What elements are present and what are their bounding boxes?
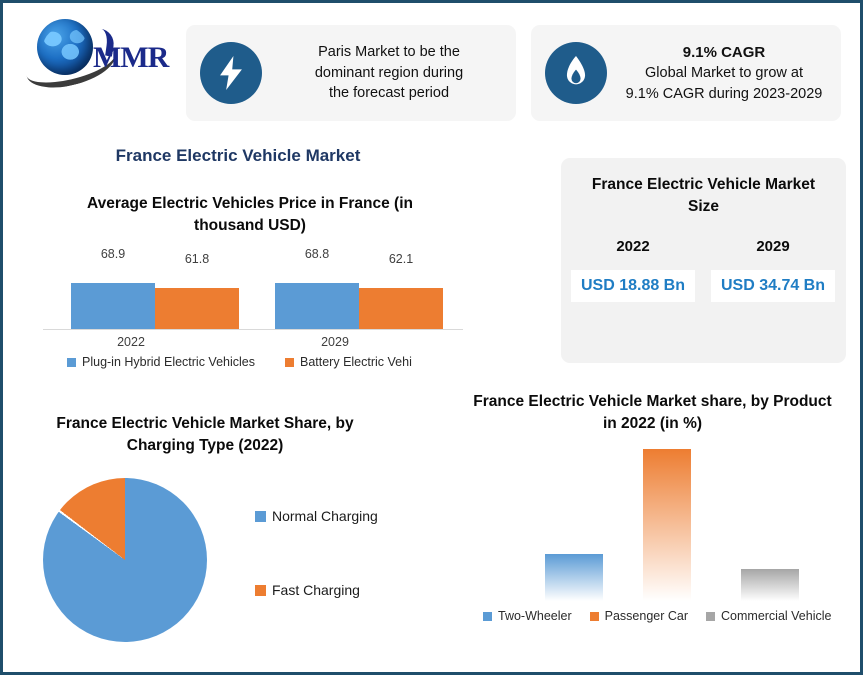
bar-label-2029-bev: 62.1 <box>371 252 431 266</box>
legend-item-normal-charging: Normal Charging <box>255 508 378 524</box>
legend-swatch-passenger-car <box>590 612 599 621</box>
legend-swatch-normal-charging <box>255 511 266 522</box>
legend-label-passenger-car: Passenger Car <box>605 609 688 623</box>
bar-commercial-vehicle <box>741 569 799 601</box>
bar-baseline-axis <box>43 329 463 330</box>
product-share-bar-chart: France Electric Vehicle Market share, by… <box>443 391 858 651</box>
card2-line2: Global Market to grow at <box>615 63 833 84</box>
card1-line2: dominant region during <box>270 63 508 84</box>
legend-label-bev: Battery Electric Vehi <box>300 355 412 369</box>
header-card-dominant-region: Paris Market to be the dominant region d… <box>186 25 516 121</box>
bar-label-2029-phev: 68.8 <box>287 247 347 261</box>
pie-chart-title: France Electric Vehicle Market Share, by… <box>45 413 365 458</box>
legend-label-two-wheeler: Two-Wheeler <box>498 609 572 623</box>
bar-2029-bev <box>359 288 443 329</box>
product-chart-title: France Electric Vehicle Market share, by… <box>465 391 840 436</box>
legend-swatch-fast-charging <box>255 585 266 596</box>
charging-type-pie-chart: France Electric Vehicle Market Share, by… <box>25 413 445 663</box>
legend-item-commercial-vehicle: Commercial Vehicle <box>706 609 831 623</box>
legend-label-normal-charging: Normal Charging <box>272 508 378 524</box>
legend-label-commercial-vehicle: Commercial Vehicle <box>721 609 831 623</box>
bar-group-2022: 68.9 61.8 <box>71 269 241 329</box>
bar-label-2022-bev: 61.8 <box>167 252 227 266</box>
legend-item-phev: Plug-in Hybrid Electric Vehicles <box>67 355 255 369</box>
market-size-value-2029: USD 34.74 Bn <box>711 270 835 302</box>
legend-swatch-bev <box>285 358 294 367</box>
market-size-panel: France Electric Vehicle Market Size 2022… <box>561 158 846 363</box>
chart-title: Average Electric Vehicles Price in Franc… <box>55 193 445 238</box>
mmr-logo: MMR <box>25 13 165 85</box>
bar-passenger-car <box>643 449 691 601</box>
legend-item-fast-charging: Fast Charging <box>255 582 378 598</box>
x-tick-2029: 2029 <box>295 335 375 349</box>
bar-chart-legend: Plug-in Hybrid Electric Vehicles Battery… <box>67 355 467 369</box>
bar-label-2022-phev: 68.9 <box>83 247 143 261</box>
legend-item-bev: Battery Electric Vehi <box>285 355 412 369</box>
legend-label-phev: Plug-in Hybrid Electric Vehicles <box>82 355 255 369</box>
bar-group-2029: 68.8 62.1 <box>275 269 445 329</box>
market-size-title: France Electric Vehicle Market Size <box>575 174 832 218</box>
bar-2029-phev <box>275 283 359 329</box>
flame-icon <box>545 42 607 104</box>
brand-name: MMR <box>93 41 168 75</box>
product-chart-legend: Two-Wheeler Passenger Car Commercial Veh… <box>483 609 853 623</box>
bar-plot-area: 68.9 61.8 68.8 62.1 <box>43 269 463 329</box>
market-size-year-2022: 2022 <box>573 238 693 255</box>
header-card-cagr: 9.1% CAGR Global Market to grow at 9.1% … <box>531 25 841 121</box>
legend-swatch-phev <box>67 358 76 367</box>
pie-graphic <box>43 478 207 642</box>
infographic-canvas: MMR Paris Market to be the dominant regi… <box>0 0 863 675</box>
legend-item-two-wheeler: Two-Wheeler <box>483 609 572 623</box>
x-tick-2022: 2022 <box>91 335 171 349</box>
header-card-cagr-text: 9.1% CAGR Global Market to grow at 9.1% … <box>607 42 841 104</box>
market-size-year-2029: 2029 <box>713 238 833 255</box>
card1-line3: the forecast period <box>270 83 508 104</box>
page-title: France Electric Vehicle Market <box>3 146 473 166</box>
lightning-bolt-icon <box>200 42 262 104</box>
cagr-value: 9.1% CAGR <box>615 42 833 63</box>
pie-chart-legend: Normal Charging Fast Charging <box>255 508 378 656</box>
average-price-bar-chart: Average Electric Vehicles Price in Franc… <box>25 193 475 378</box>
legend-swatch-commercial-vehicle <box>706 612 715 621</box>
bar-2022-bev <box>155 288 239 329</box>
card2-line3: 9.1% CAGR during 2023-2029 <box>615 84 833 105</box>
bar-2022-phev <box>71 283 155 329</box>
bar-two-wheeler <box>545 554 603 601</box>
header-card-dominant-text: Paris Market to be the dominant region d… <box>262 42 516 104</box>
legend-swatch-two-wheeler <box>483 612 492 621</box>
product-plot-area <box>483 449 833 601</box>
legend-item-passenger-car: Passenger Car <box>590 609 688 623</box>
legend-label-fast-charging: Fast Charging <box>272 582 360 598</box>
market-size-value-2022: USD 18.88 Bn <box>571 270 695 302</box>
card1-line1: Paris Market to be the <box>270 42 508 63</box>
